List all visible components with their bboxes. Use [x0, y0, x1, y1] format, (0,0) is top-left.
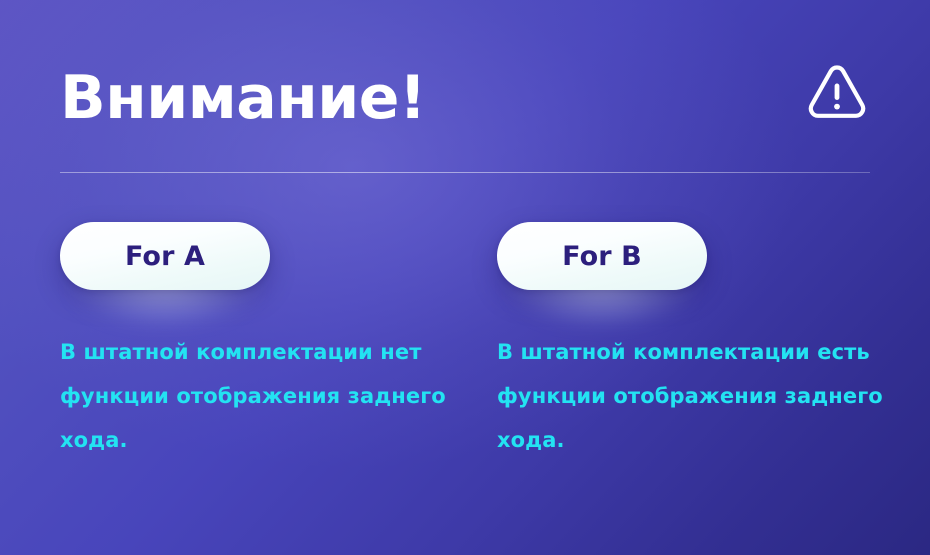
warning-slide: Внимание! For A В штатной комплектации н…: [0, 0, 930, 555]
body-text-for-a: В штатной комплектации нет функции отобр…: [60, 330, 452, 462]
pill-label-for-b: For B: [562, 241, 642, 272]
header-divider: [60, 172, 870, 173]
warning-triangle-icon: [804, 60, 870, 124]
pill-button-for-b[interactable]: For B: [497, 222, 707, 290]
column-for-a: For A В штатной комплектации нет функции…: [60, 222, 460, 290]
pill-wrapper-a: For A: [60, 222, 460, 290]
column-for-b: For B В штатной комплектации есть функци…: [497, 222, 897, 290]
page-title: Внимание!: [60, 52, 426, 144]
pill-button-for-a[interactable]: For A: [60, 222, 270, 290]
body-text-for-b: В штатной комплектации есть функции отоб…: [497, 330, 893, 462]
pill-label-for-a: For A: [125, 241, 205, 272]
slide-header: Внимание!: [60, 52, 870, 144]
pill-wrapper-b: For B: [497, 222, 897, 290]
